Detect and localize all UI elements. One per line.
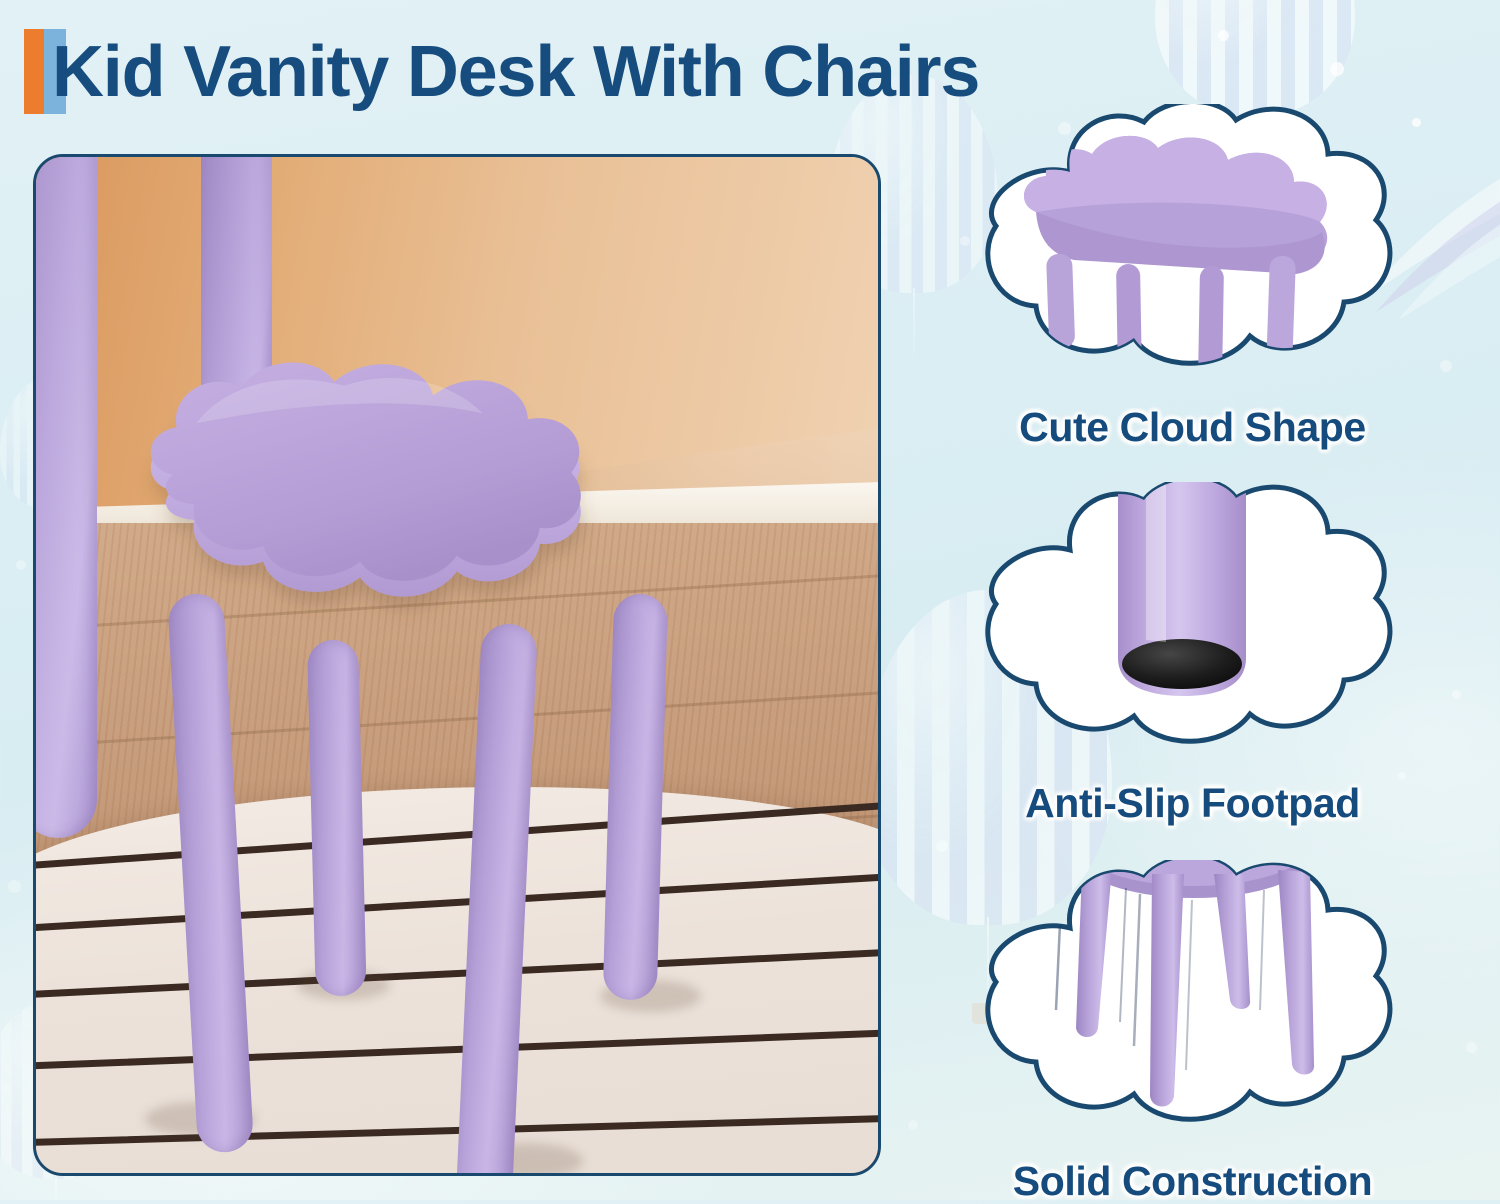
main-product-photo bbox=[33, 154, 881, 1176]
cloud-callout-frame bbox=[978, 860, 1408, 1145]
feature-label: Anti-Slip Footpad bbox=[900, 781, 1485, 826]
cloud-callout-frame bbox=[978, 104, 1408, 389]
feature-list: Cute Cloud Shape bbox=[900, 104, 1485, 1188]
cloud-outline-icon bbox=[978, 860, 1408, 1145]
balloon-string bbox=[55, 1175, 57, 1200]
back-chair-leg bbox=[33, 154, 97, 838]
accent-bar-orange bbox=[24, 29, 44, 114]
feature-label: Cute Cloud Shape bbox=[900, 405, 1485, 450]
feature-anti-slip-footpad: Anti-Slip Footpad bbox=[900, 482, 1485, 826]
feature-cute-cloud-shape: Cute Cloud Shape bbox=[900, 104, 1485, 450]
cloud-stool-seat bbox=[137, 340, 710, 645]
stool-leg bbox=[602, 593, 667, 1001]
feature-label: Solid Construction bbox=[900, 1159, 1485, 1204]
feature-solid-construction: Solid Construction bbox=[900, 860, 1485, 1204]
cloud-callout-frame bbox=[978, 482, 1408, 767]
cloud-outline-icon bbox=[978, 482, 1408, 767]
page-title: Kid Vanity Desk With Chairs bbox=[52, 16, 979, 128]
stool-leg bbox=[307, 639, 366, 996]
cloud-outline-icon bbox=[978, 104, 1408, 389]
